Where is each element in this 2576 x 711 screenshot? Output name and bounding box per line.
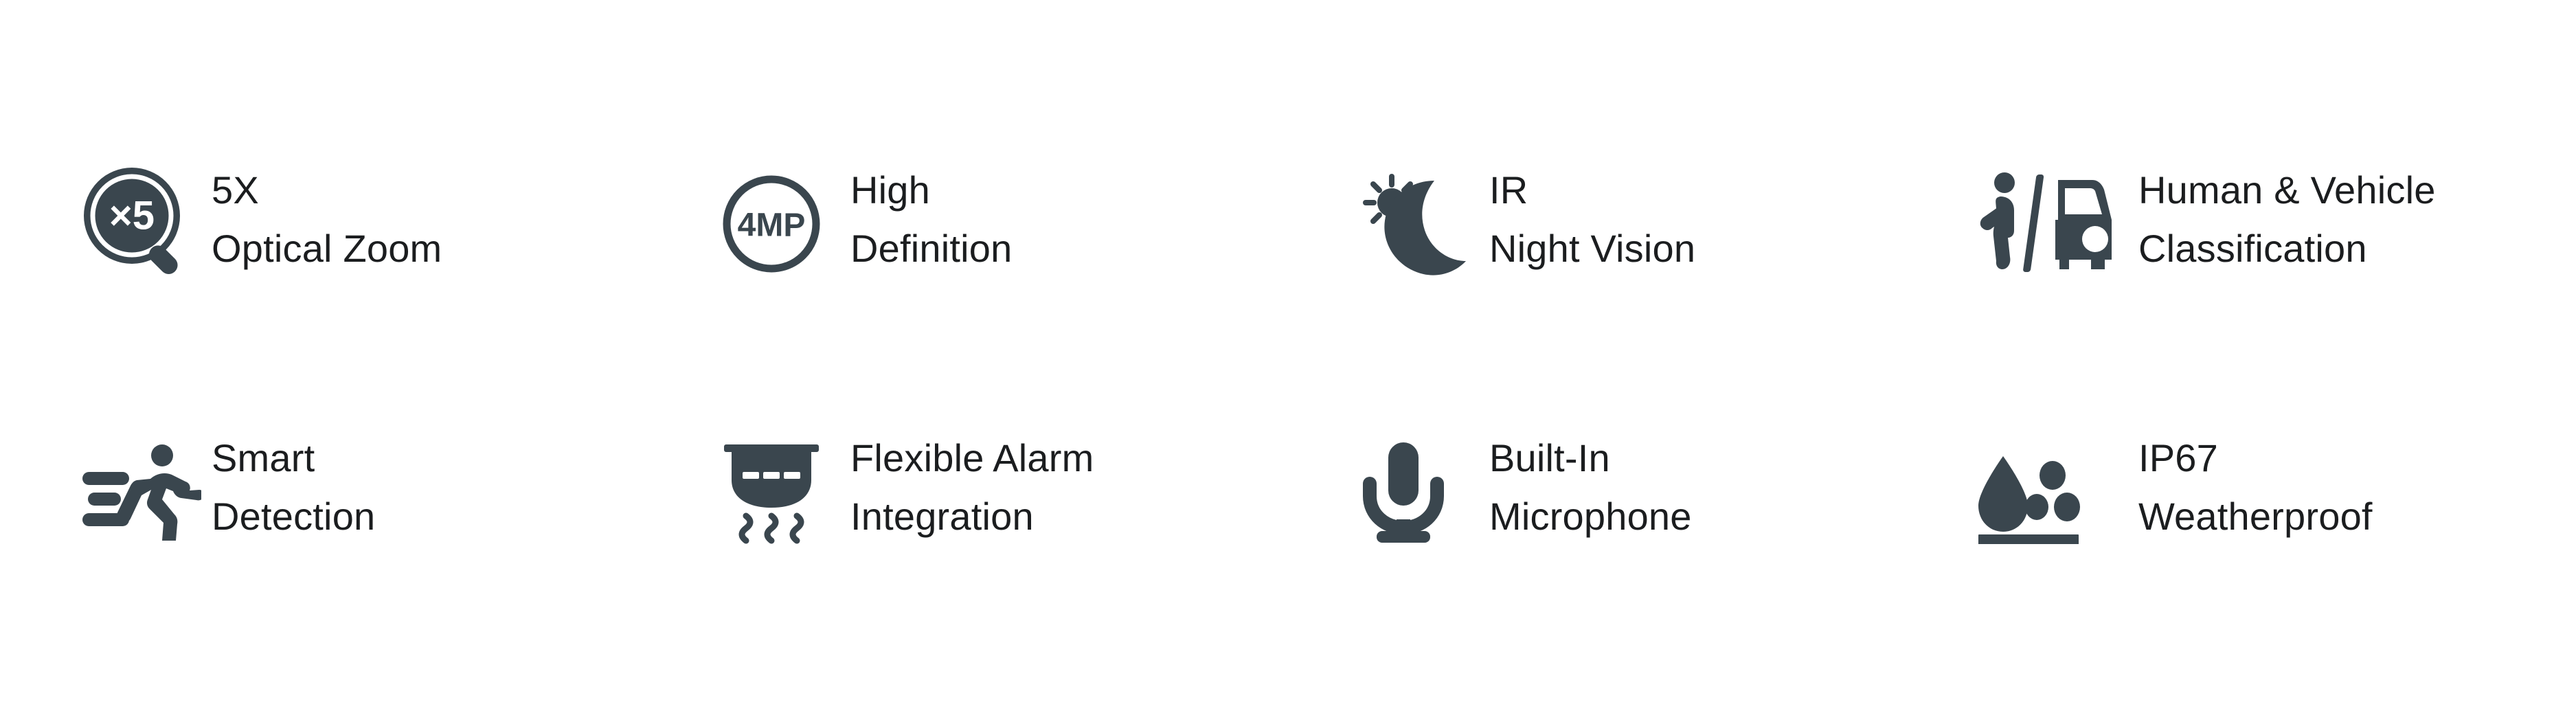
ceiling-mount-bar: [724, 444, 819, 452]
feature-line-1: Flexible Alarm: [850, 429, 1094, 487]
feature-text-flexible-alarm: Flexible Alarm Integration: [850, 427, 1094, 545]
feature-item-human-vehicle: Human & Vehicle Classification: [1977, 159, 2436, 297]
feature-line-1: Smart: [212, 429, 375, 487]
megapixel-label: 4MP: [738, 207, 806, 244]
feature-item-high-definition: 4MP High Definition: [720, 159, 1012, 297]
feature-text-weatherproof: IP67 Weatherproof: [2138, 427, 2373, 545]
feature-text-microphone: Built-In Microphone: [1489, 427, 1692, 545]
surface-bar: [1978, 534, 2079, 544]
feature-line-1: 5X: [212, 161, 442, 219]
walking-person-icon: [1980, 172, 2015, 269]
4mp-circle-icon: 4MP: [720, 162, 850, 286]
divider-slash: [2023, 174, 2044, 272]
vehicle-icon: [2055, 180, 2112, 269]
feature-text-optical-zoom: 5X Optical Zoom: [212, 159, 442, 278]
feature-grid: ×5 5X Optical Zoom 4MP High Definition: [0, 0, 2576, 711]
feature-line-2: Microphone: [1489, 487, 1692, 545]
microphone-icon: [1359, 430, 1489, 554]
feature-line-2: Classification: [2138, 219, 2436, 278]
magnifier-zoom-label: ×5: [109, 194, 155, 238]
feature-line-2: Optical Zoom: [212, 219, 442, 278]
feature-text-night-vision: IR Night Vision: [1489, 159, 1695, 278]
running-person-motion-icon: [81, 430, 212, 554]
feature-item-flexible-alarm: Flexible Alarm Integration: [720, 427, 1094, 565]
feature-text-high-definition: High Definition: [850, 159, 1012, 278]
feature-line-2: Definition: [850, 219, 1012, 278]
water-droplet-icon: [1977, 430, 2138, 554]
feature-line-1: IR: [1489, 161, 1695, 219]
runner-icon: [117, 444, 201, 541]
sun-moon-icon: [1359, 162, 1489, 286]
feature-line-1: IP67: [2138, 429, 2373, 487]
feature-line-2: Weatherproof: [2138, 487, 2373, 545]
feature-text-smart-detection: Smart Detection: [212, 427, 375, 545]
feature-line-2: Integration: [850, 487, 1094, 545]
large-droplet: [1978, 456, 2028, 532]
feature-item-microphone: Built-In Microphone: [1359, 427, 1692, 565]
smoke-detector-icon: [720, 430, 850, 554]
feature-line-1: High: [850, 161, 1012, 219]
feature-line-2: Detection: [212, 487, 375, 545]
feature-item-night-vision: IR Night Vision: [1359, 159, 1695, 297]
person-vehicle-icon: [1977, 162, 2138, 286]
smoke-waves-icon: [742, 516, 801, 541]
feature-text-human-vehicle: Human & Vehicle Classification: [2138, 159, 2436, 278]
detector-vents: [743, 472, 800, 479]
feature-line-1: Built-In: [1489, 429, 1692, 487]
small-droplets: [2025, 461, 2080, 521]
feature-item-weatherproof: IP67 Weatherproof: [1977, 427, 2373, 565]
detector-dome: [732, 452, 811, 508]
feature-line-1: Human & Vehicle: [2138, 161, 2436, 219]
feature-item-smart-detection: Smart Detection: [81, 427, 375, 565]
feature-line-2: Night Vision: [1489, 219, 1695, 278]
feature-item-optical-zoom: ×5 5X Optical Zoom: [81, 159, 442, 297]
magnifier-x5-icon: ×5: [81, 162, 212, 286]
